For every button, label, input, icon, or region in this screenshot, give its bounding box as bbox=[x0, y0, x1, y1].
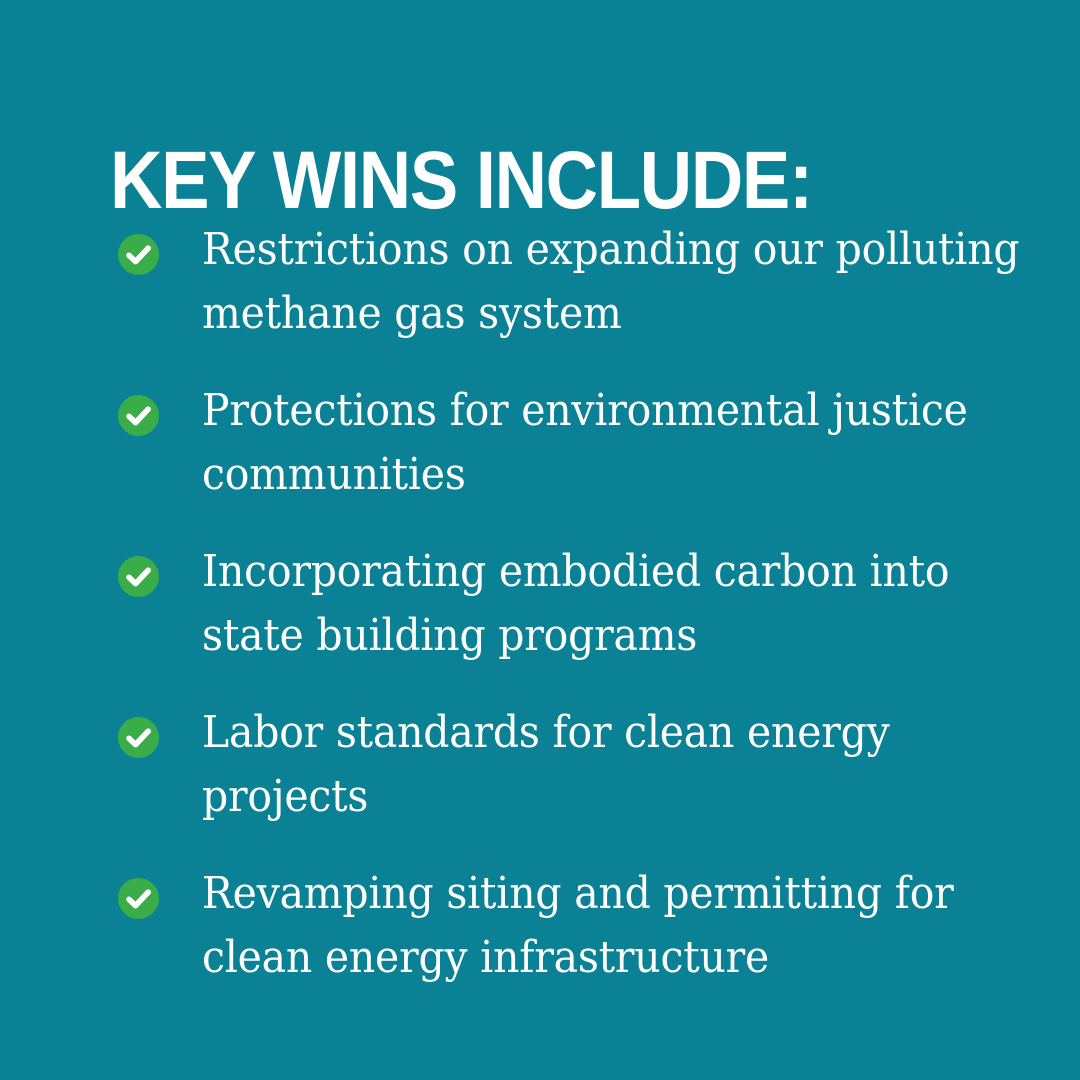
list-item-label: Labor standards for clean energy project… bbox=[202, 701, 1042, 829]
page-title: KEY WINS INCLUDE: bbox=[110, 139, 889, 223]
list-item-label: Protections for environmental justice co… bbox=[202, 379, 1042, 507]
list-item-label: Restrictions on expanding our polluting … bbox=[202, 218, 1042, 346]
slide-canvas: KEY WINS INCLUDE: Restrictions on expand… bbox=[0, 0, 1080, 1080]
list-item-label: Incorporating embodied carbon into state… bbox=[202, 540, 1042, 668]
check-circle-icon bbox=[118, 556, 159, 597]
list-item: Revamping siting and permitting for clea… bbox=[112, 862, 1042, 990]
key-wins-list: Restrictions on expanding our polluting … bbox=[112, 218, 1042, 990]
check-circle-icon bbox=[118, 717, 159, 758]
list-item: Labor standards for clean energy project… bbox=[112, 701, 1042, 829]
check-circle-icon bbox=[118, 234, 159, 275]
list-item: Incorporating embodied carbon into state… bbox=[112, 540, 1042, 668]
check-circle-icon bbox=[118, 395, 159, 436]
list-item: Protections for environmental justice co… bbox=[112, 379, 1042, 507]
list-item: Restrictions on expanding our polluting … bbox=[112, 218, 1042, 346]
list-item-label: Revamping siting and permitting for clea… bbox=[202, 862, 1042, 990]
check-circle-icon bbox=[118, 878, 159, 919]
